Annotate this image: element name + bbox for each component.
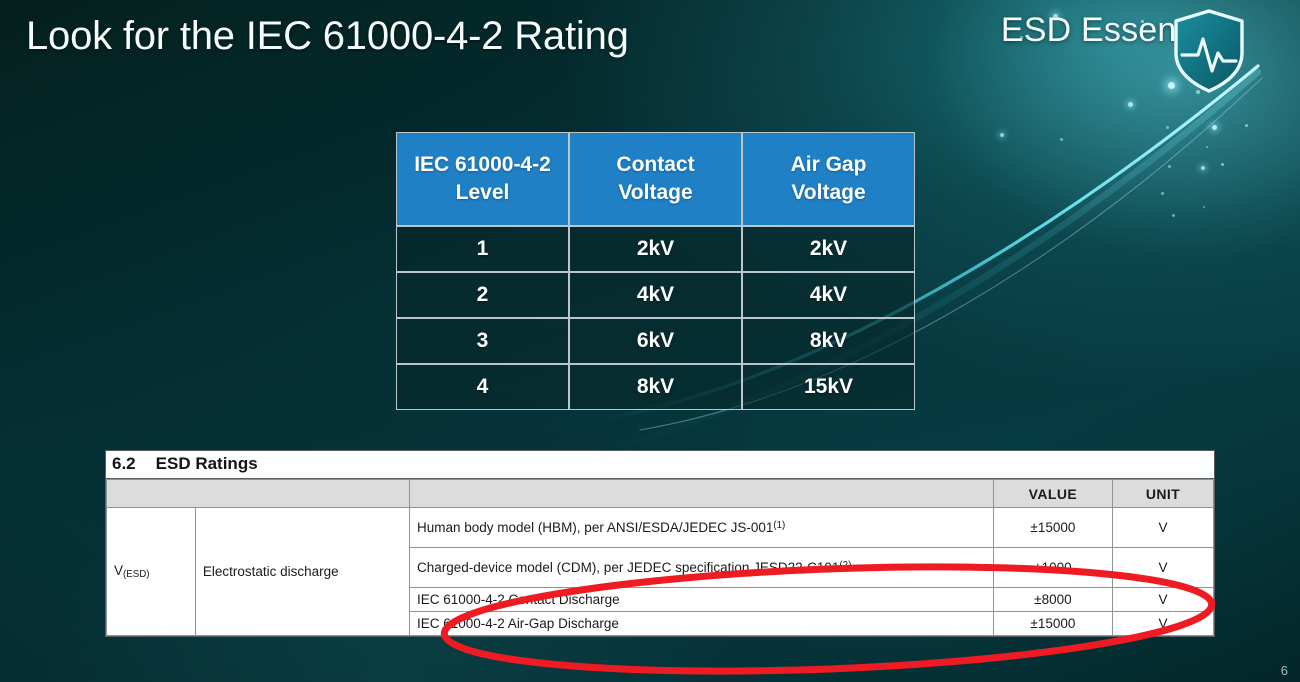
table-header-row: IEC 61000-4-2 Level Contact Voltage Air … [396, 132, 915, 226]
section-title: ESD Ratings [156, 454, 258, 473]
column-header-blank-condition [410, 480, 994, 508]
column-header-blank-left [107, 480, 410, 508]
cell-level: 3 [396, 318, 569, 364]
glow-dot [1000, 133, 1004, 137]
cell-contact: 6kV [569, 318, 742, 364]
cell-airgap: 4kV [742, 272, 915, 318]
cell-value: ±1000 [993, 548, 1112, 588]
cell-condition: Charged-device model (CDM), per JEDEC sp… [410, 548, 994, 588]
column-header-level: IEC 61000-4-2 Level [396, 132, 569, 226]
cell-condition: Human body model (HBM), per ANSI/ESDA/JE… [410, 508, 994, 548]
cell-level: 4 [396, 364, 569, 410]
datasheet-panel: 6.2ESD Ratings VALUE UNIT V(ESD) [105, 450, 1215, 637]
table-row: 1 2kV 2kV [396, 226, 915, 272]
table-row: 3 6kV 8kV [396, 318, 915, 364]
column-header-unit: UNIT [1112, 480, 1213, 508]
table-row: 2 4kV 4kV [396, 272, 915, 318]
section-number: 6.2 [112, 454, 136, 473]
glow-dot [1166, 126, 1169, 129]
datasheet-section-heading: 6.2ESD Ratings [106, 451, 1214, 479]
cell-airgap: 2kV [742, 226, 915, 272]
symbol-subscript: (ESD) [123, 569, 149, 580]
cell-value: ±15000 [993, 612, 1112, 636]
cell-airgap: 15kV [742, 364, 915, 410]
cell-symbol: V(ESD) [107, 508, 196, 636]
cell-unit: V [1112, 612, 1213, 636]
glow-dot [1221, 163, 1224, 166]
glow-dot [1206, 146, 1208, 148]
cell-level: 1 [396, 226, 569, 272]
cell-airgap: 8kV [742, 318, 915, 364]
glow-dot [1212, 125, 1217, 130]
glow-dot [1128, 102, 1133, 107]
cell-contact: 4kV [569, 272, 742, 318]
cell-contact: 2kV [569, 226, 742, 272]
page-number: 6 [1281, 663, 1288, 678]
glow-dot [1168, 165, 1171, 168]
glow-dot [1060, 138, 1063, 141]
cell-condition: IEC 61000-4-2 Air-Gap Discharge [410, 612, 994, 636]
glow-dot [1203, 206, 1205, 208]
cell-unit: V [1112, 508, 1213, 548]
condition-footnote: (2) [839, 560, 851, 571]
cell-value: ±15000 [993, 508, 1112, 548]
glow-dot [1201, 166, 1205, 170]
cell-value: ±8000 [993, 588, 1112, 612]
brand-label: ESD Essentials [1001, 11, 1238, 50]
symbol-text: V [114, 563, 123, 578]
condition-footnote: (1) [773, 520, 785, 531]
cell-unit: V [1112, 548, 1213, 588]
condition-text: Charged-device model (CDM), per JEDEC sp… [417, 560, 839, 575]
cell-level: 2 [396, 272, 569, 318]
header-line-2: Level [456, 181, 510, 204]
header-line-2: Voltage [618, 181, 692, 204]
column-header-contact-voltage: Contact Voltage [569, 132, 742, 226]
table-row: 4 8kV 15kV [396, 364, 915, 410]
cell-contact: 8kV [569, 364, 742, 410]
condition-text: Human body model (HBM), per ANSI/ESDA/JE… [417, 520, 773, 535]
header-line-2: Voltage [791, 181, 865, 204]
slide-canvas: Look for the IEC 61000-4-2 Rating ESD Es… [0, 0, 1300, 682]
cell-parameter: Electrostatic discharge [195, 508, 409, 636]
table-header-row: VALUE UNIT [107, 480, 1214, 508]
page-title: Look for the IEC 61000-4-2 Rating [26, 14, 629, 59]
column-header-air-gap-voltage: Air Gap Voltage [742, 132, 915, 226]
glow-dot [1172, 214, 1175, 217]
header-line-1: Air Gap [791, 153, 867, 176]
column-header-value: VALUE [993, 480, 1112, 508]
esd-ratings-table: VALUE UNIT V(ESD) Electrostatic discharg… [106, 479, 1214, 636]
header-line-1: IEC 61000-4-2 [414, 153, 551, 176]
header-line-1: Contact [616, 153, 694, 176]
iec-level-table: IEC 61000-4-2 Level Contact Voltage Air … [396, 132, 915, 410]
glow-dot [1161, 192, 1164, 195]
cell-unit: V [1112, 588, 1213, 612]
shield-pulse-icon [1172, 9, 1246, 93]
cell-condition: IEC 61000-4-2 Contact Discharge [410, 588, 994, 612]
glow-dot [1245, 124, 1248, 127]
table-row: V(ESD) Electrostatic discharge Human bod… [107, 508, 1214, 548]
